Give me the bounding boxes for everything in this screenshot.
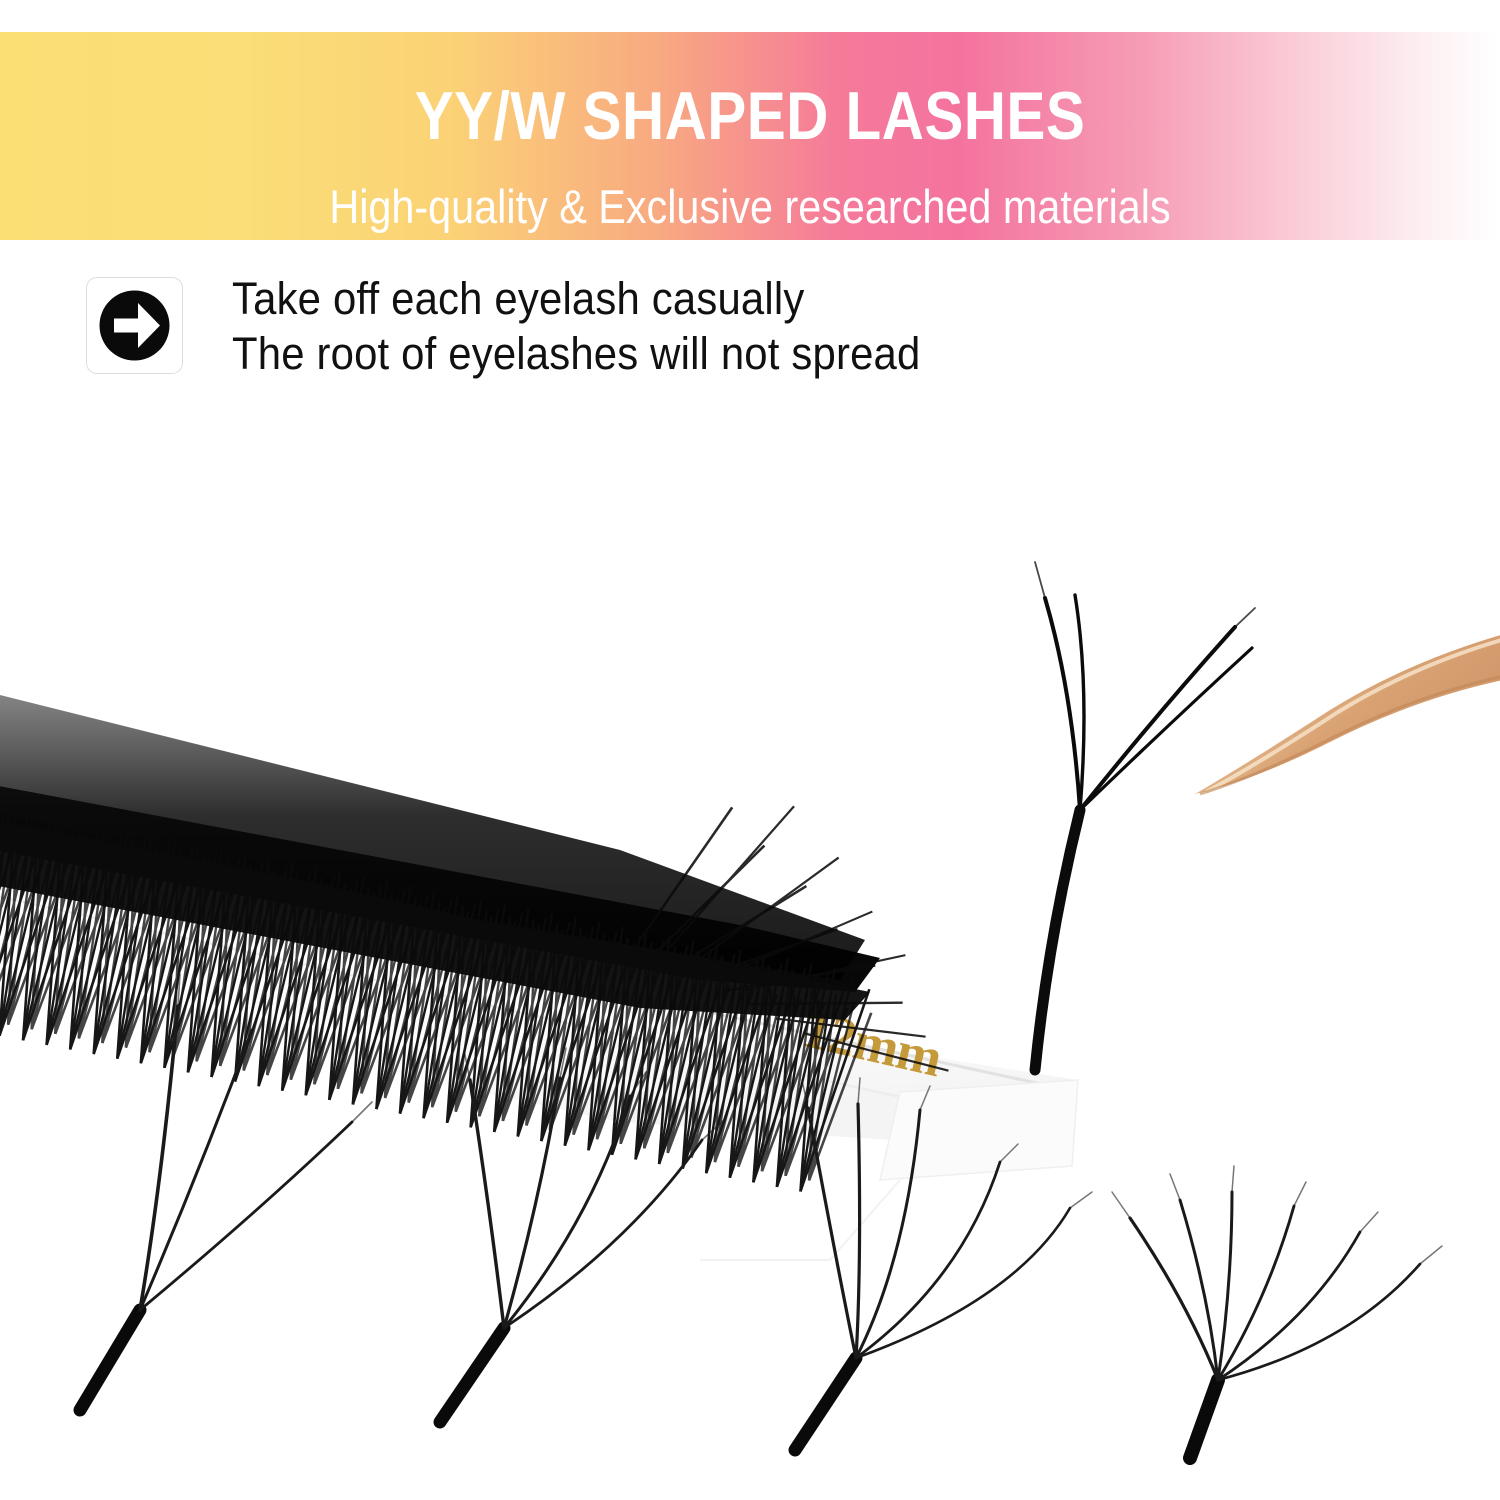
feature-note-line-2: The root of eyelashes will not spread: [232, 326, 920, 381]
feature-note-text: Take off each eyelash casually The root …: [232, 271, 920, 381]
product-photo-svg: 12mm: [0, 380, 1500, 1500]
held-yy-lash: [1035, 562, 1255, 1070]
page-subtitle: High-quality & Exclusive researched mate…: [90, 183, 1410, 230]
header-banner: YY/W SHAPED LASHES High-quality & Exclus…: [0, 32, 1500, 240]
fan-sample-6-prong: [1112, 1166, 1442, 1458]
product-photo: 12mm: [0, 380, 1500, 1500]
arrow-right-circle-icon: [98, 289, 171, 362]
lash-tweezer: [1195, 620, 1500, 794]
arrow-badge: [86, 277, 183, 374]
page-title: YY/W SHAPED LASHES: [105, 82, 1395, 150]
feature-note: Take off each eyelash casually The root …: [86, 277, 1186, 389]
feature-note-line-1: Take off each eyelash casually: [232, 271, 920, 326]
